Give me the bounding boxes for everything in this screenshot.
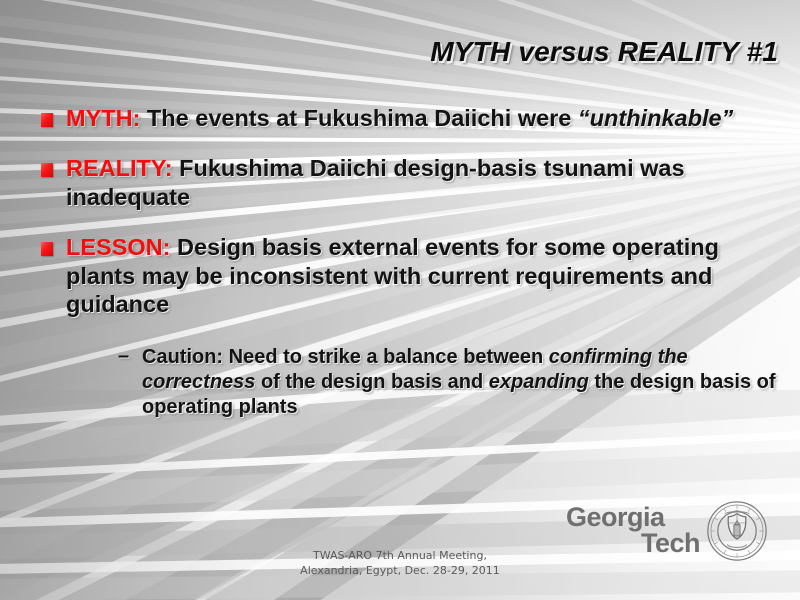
sub-list-item: – Caution: Need to strike a balance betw… bbox=[118, 345, 778, 421]
list-item: REALITY: Fukushima Daiichi design-basis … bbox=[36, 154, 778, 211]
bullet-lead-label: MYTH: bbox=[66, 105, 140, 131]
georgia-tech-seal-icon bbox=[706, 500, 768, 562]
bullet-text: LESSON: Design basis external events for… bbox=[66, 233, 778, 318]
bullet-text: MYTH: The events at Fukushima Daiichi we… bbox=[66, 104, 778, 132]
red-square-bullet-icon bbox=[41, 163, 53, 177]
dash-bullet-icon: – bbox=[118, 345, 129, 368]
presentation-slide: MYTH versus REALITY #1 MYTH: The events … bbox=[0, 0, 800, 600]
bullet-emphasis-text: “unthinkable” bbox=[578, 105, 733, 131]
slide-footer: TWAS-ARO 7th Annual Meeting, Alexandria,… bbox=[200, 549, 600, 579]
list-item: LESSON: Design basis external events for… bbox=[36, 233, 778, 420]
sub-text-part-1: Caution: Need to strike a balance betwee… bbox=[142, 346, 549, 368]
list-item: MYTH: The events at Fukushima Daiichi we… bbox=[36, 104, 778, 132]
bullet-text: REALITY: Fukushima Daiichi design-basis … bbox=[66, 154, 778, 211]
red-square-bullet-icon bbox=[41, 113, 53, 127]
sub-text-part-2: of the design basis and bbox=[255, 371, 488, 393]
bullet-lead-label: LESSON: bbox=[66, 234, 170, 260]
bullet-lead-label: REALITY: bbox=[66, 155, 173, 181]
footer-line-2: Alexandria, Egypt, Dec. 28-29, 2011 bbox=[200, 564, 600, 579]
slide-body: MYTH: The events at Fukushima Daiichi we… bbox=[36, 104, 778, 420]
footer-line-1: TWAS-ARO 7th Annual Meeting, bbox=[200, 549, 600, 564]
sub-bullet-text: Caution: Need to strike a balance betwee… bbox=[142, 345, 778, 421]
red-square-bullet-icon bbox=[41, 242, 53, 256]
bullet-body-text: The events at Fukushima Daiichi were bbox=[140, 105, 578, 131]
sub-text-emphasis-2: expanding bbox=[489, 371, 589, 393]
page-title: MYTH versus REALITY #1 bbox=[330, 36, 778, 68]
